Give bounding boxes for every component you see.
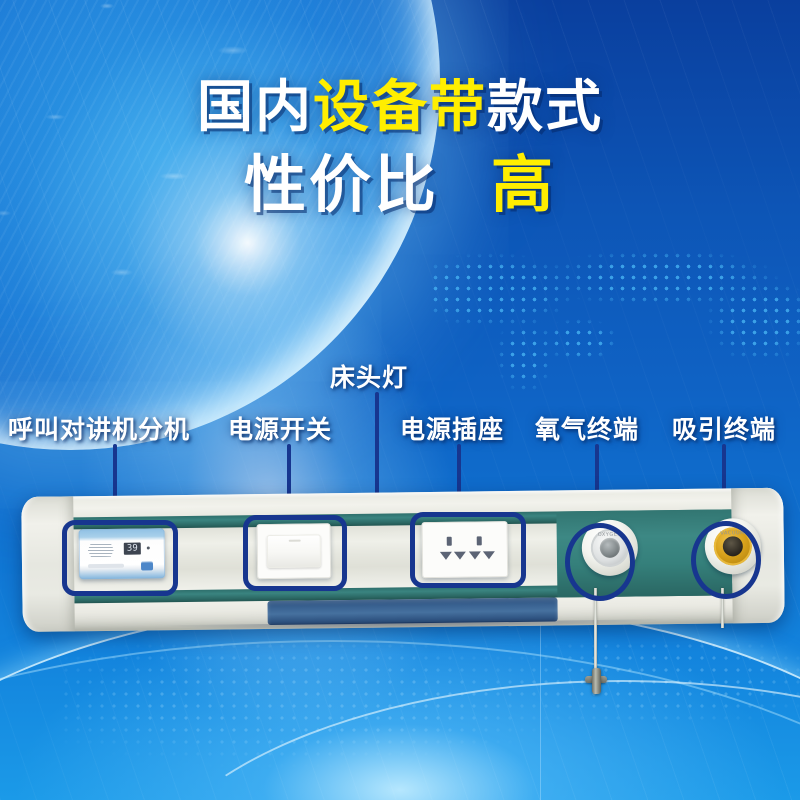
headline-part-2: 设备带 [313,75,487,140]
panel-body: 39 OXYGEN [21,488,785,632]
intercom-slot [88,564,124,568]
intercom-call-button[interactable] [141,561,153,570]
callout-label-oxygen: 氧气终端 [535,410,639,446]
rocker-paddle[interactable] [267,534,321,568]
speaker-grille-icon [88,543,114,557]
callout-label-nurse-call: 呼叫对讲机分机 [8,410,190,446]
intercom-display: 39 [124,543,141,555]
callout-label-power-switch: 电源开关 [228,410,332,446]
promo-banner: 国内设备带款式 性价比高 呼叫对讲机分机 电源开关 床头灯 电源插座 氧气终端 … [0,0,800,800]
suction-outlet-port [723,536,743,556]
callout-label-power-socket: 电源插座 [400,410,504,446]
vertical-grid-line [540,620,541,800]
headline-part-3: 款式 [487,75,603,140]
headline-part-1: 国内 [197,75,313,140]
headline-part-4: 性价比 [244,148,439,221]
power-socket[interactable] [422,521,509,578]
headline-line-2: 性价比高 [0,152,800,217]
nurse-call-intercom[interactable]: 39 [79,528,166,579]
pull-cord-oxygen[interactable] [594,588,597,680]
panel-end-cap-left [21,496,75,632]
callout-label-bed-lamp: 床头灯 [330,358,408,394]
headline-part-5: 高 [491,148,556,221]
headline-line-1: 国内设备带款式 [0,78,800,138]
status-led-icon [147,546,150,549]
power-switch[interactable] [257,523,332,579]
callout-label-suction: 吸引终端 [672,410,776,446]
oxygen-outlet-port [600,538,620,558]
headline-block: 国内设备带款式 性价比高 [0,78,800,218]
pull-cord-handle[interactable] [592,668,601,694]
pull-cord-suction[interactable] [721,588,724,628]
medical-bed-head-unit: 39 OXYGEN [21,488,785,632]
